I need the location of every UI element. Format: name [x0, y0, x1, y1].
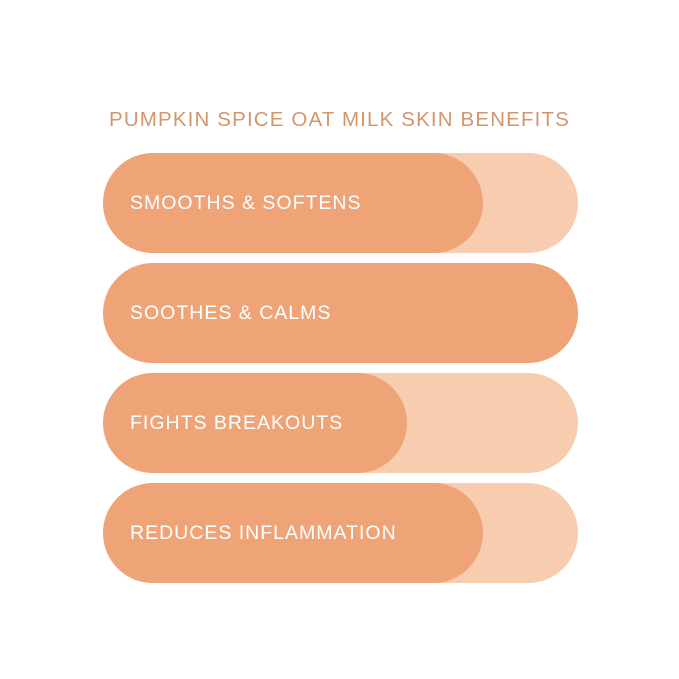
bar-label: FIGHTS BREAKOUTS — [130, 373, 343, 473]
bar-label: SMOOTHS & SOFTENS — [130, 153, 362, 253]
bar-label: SOOTHES & CALMS — [130, 263, 331, 363]
bar-label: REDUCES INFLAMMATION — [130, 483, 397, 583]
benefit-bar-row: SMOOTHS & SOFTENS — [103, 153, 578, 253]
benefit-bar-row: REDUCES INFLAMMATION — [103, 483, 578, 583]
benefit-bar-list: SMOOTHS & SOFTENS SOOTHES & CALMS FIGHTS… — [103, 153, 578, 593]
benefit-bar-row: FIGHTS BREAKOUTS — [103, 373, 578, 473]
benefits-infographic: PUMPKIN SPICE OAT MILK SKIN BENEFITS SMO… — [0, 0, 679, 679]
page-title: PUMPKIN SPICE OAT MILK SKIN BENEFITS — [0, 108, 679, 132]
benefit-bar-row: SOOTHES & CALMS — [103, 263, 578, 363]
